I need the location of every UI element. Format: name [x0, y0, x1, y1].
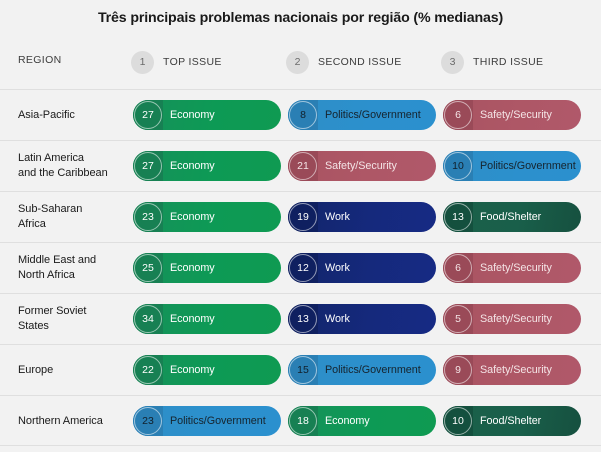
- issue-category-label: Economy: [163, 262, 215, 274]
- issue-pill[interactable]: 9Safety/Security: [443, 355, 581, 385]
- issue-category-label: Safety/Security: [473, 364, 552, 376]
- issue-pill[interactable]: 6Safety/Security: [443, 100, 581, 130]
- issue-category-label: Economy: [318, 415, 370, 427]
- issue-pill[interactable]: 27Economy: [133, 100, 281, 130]
- issue-pill[interactable]: 25Economy: [133, 253, 281, 283]
- issue-value-badge: 13: [288, 304, 318, 334]
- page-title: Três principais problemas nacionais por …: [0, 9, 601, 27]
- issue-pill[interactable]: 13Work: [288, 304, 436, 334]
- column-header-top-issue: 1 TOP ISSUE: [131, 50, 222, 74]
- issue-category-label: Politics/Government: [163, 415, 266, 427]
- issue-value-badge: 10: [443, 151, 473, 181]
- issue-value-badge: 21: [288, 151, 318, 181]
- column-header-label-1: TOP ISSUE: [163, 56, 222, 68]
- issue-pill[interactable]: 8Politics/Government: [288, 100, 436, 130]
- region-label-line: Asia-Pacific: [18, 108, 126, 123]
- column-header-row: REGION 1 TOP ISSUE 2 SECOND ISSUE 3 THIR…: [0, 46, 601, 80]
- region-label: Middle East andNorth Africa: [18, 243, 126, 293]
- issue-pill[interactable]: 21Safety/Security: [288, 151, 436, 181]
- issue-value-badge: 6: [443, 100, 473, 130]
- issue-pill[interactable]: 19Work: [288, 202, 436, 232]
- issue-pill[interactable]: 23Politics/Government: [133, 406, 281, 436]
- issue-value-badge: 15: [288, 355, 318, 385]
- issue-category-label: Economy: [163, 364, 215, 376]
- region-label-line: North Africa: [18, 268, 126, 283]
- issue-category-label: Economy: [163, 211, 215, 223]
- issue-category-label: Politics/Government: [318, 109, 421, 121]
- issue-value-badge: 25: [133, 253, 163, 283]
- column-number-badge-1: 1: [131, 51, 154, 74]
- issue-value-badge: 27: [133, 151, 163, 181]
- issue-pill[interactable]: 27Economy: [133, 151, 281, 181]
- table-row: Former SovietStates34Economy13Work5Safet…: [0, 293, 601, 344]
- issue-value-badge: 8: [288, 100, 318, 130]
- issue-pill[interactable]: 15Politics/Government: [288, 355, 436, 385]
- issue-category-label: Economy: [163, 160, 215, 172]
- issue-pill[interactable]: 6Safety/Security: [443, 253, 581, 283]
- issue-value-badge: 13: [443, 202, 473, 232]
- issue-category-label: Food/Shelter: [473, 211, 541, 223]
- issue-category-label: Safety/Security: [318, 160, 397, 172]
- region-label: Europe: [18, 345, 126, 395]
- region-label-line: Sub-Saharan: [18, 202, 126, 217]
- column-number-badge-3: 3: [441, 51, 464, 74]
- region-label-line: Africa: [18, 217, 126, 232]
- region-label: Northern America: [18, 396, 126, 446]
- issue-value-badge: 19: [288, 202, 318, 232]
- region-label-line: Latin America: [18, 151, 126, 166]
- region-label-line: Northern America: [18, 414, 126, 429]
- table-row: Northern America23Politics/Government18E…: [0, 395, 601, 446]
- issue-category-label: Work: [318, 211, 350, 223]
- table-row: Asia-Pacific27Economy8Politics/Governmen…: [0, 89, 601, 140]
- issue-value-badge: 6: [443, 253, 473, 283]
- issue-pill[interactable]: 10Food/Shelter: [443, 406, 581, 436]
- issue-pill[interactable]: 12Work: [288, 253, 436, 283]
- issue-value-badge: 10: [443, 406, 473, 436]
- column-number-badge-2: 2: [286, 51, 309, 74]
- issue-category-label: Work: [318, 313, 350, 325]
- table-row: Europe22Economy15Politics/Government9Saf…: [0, 344, 601, 395]
- chart-container: Três principais problemas nacionais por …: [0, 0, 601, 452]
- issue-category-label: Economy: [163, 109, 215, 121]
- region-column-header: REGION: [18, 54, 62, 66]
- region-label: Asia-Pacific: [18, 90, 126, 140]
- region-label: Latin Americaand the Caribbean: [18, 141, 126, 191]
- table-row: Latin Americaand the Caribbean27Economy2…: [0, 140, 601, 191]
- issue-category-label: Safety/Security: [473, 109, 552, 121]
- issue-category-label: Politics/Government: [473, 160, 576, 172]
- issue-pill[interactable]: 18Economy: [288, 406, 436, 436]
- column-header-label-3: THIRD ISSUE: [473, 56, 543, 68]
- issue-pill[interactable]: 23Economy: [133, 202, 281, 232]
- issue-pill[interactable]: 34Economy: [133, 304, 281, 334]
- table-row: Sub-SaharanAfrica23Economy19Work13Food/S…: [0, 191, 601, 242]
- data-rows: Asia-Pacific27Economy8Politics/Governmen…: [0, 89, 601, 446]
- column-header-label-2: SECOND ISSUE: [318, 56, 402, 68]
- issue-value-badge: 23: [133, 406, 163, 436]
- issue-value-badge: 22: [133, 355, 163, 385]
- table-row: Middle East andNorth Africa25Economy12Wo…: [0, 242, 601, 293]
- issue-category-label: Economy: [163, 313, 215, 325]
- region-label: Former SovietStates: [18, 294, 126, 344]
- issue-category-label: Safety/Security: [473, 313, 552, 325]
- issue-pill[interactable]: 22Economy: [133, 355, 281, 385]
- issue-value-badge: 9: [443, 355, 473, 385]
- region-label-line: States: [18, 319, 126, 334]
- issue-pill[interactable]: 10Politics/Government: [443, 151, 581, 181]
- region-label-line: Middle East and: [18, 253, 126, 268]
- issue-value-badge: 27: [133, 100, 163, 130]
- issue-pill[interactable]: 5Safety/Security: [443, 304, 581, 334]
- region-label: Sub-SaharanAfrica: [18, 192, 126, 242]
- column-header-second-issue: 2 SECOND ISSUE: [286, 50, 402, 74]
- issue-value-badge: 5: [443, 304, 473, 334]
- issue-category-label: Work: [318, 262, 350, 274]
- issue-value-badge: 23: [133, 202, 163, 232]
- region-label-line: Former Soviet: [18, 304, 126, 319]
- issue-value-badge: 12: [288, 253, 318, 283]
- issue-pill[interactable]: 13Food/Shelter: [443, 202, 581, 232]
- issue-category-label: Safety/Security: [473, 262, 552, 274]
- region-label-line: and the Caribbean: [18, 166, 126, 181]
- column-header-third-issue: 3 THIRD ISSUE: [441, 50, 543, 74]
- issue-category-label: Food/Shelter: [473, 415, 541, 427]
- region-label-line: Europe: [18, 363, 126, 378]
- issue-value-badge: 34: [133, 304, 163, 334]
- issue-value-badge: 18: [288, 406, 318, 436]
- issue-category-label: Politics/Government: [318, 364, 421, 376]
